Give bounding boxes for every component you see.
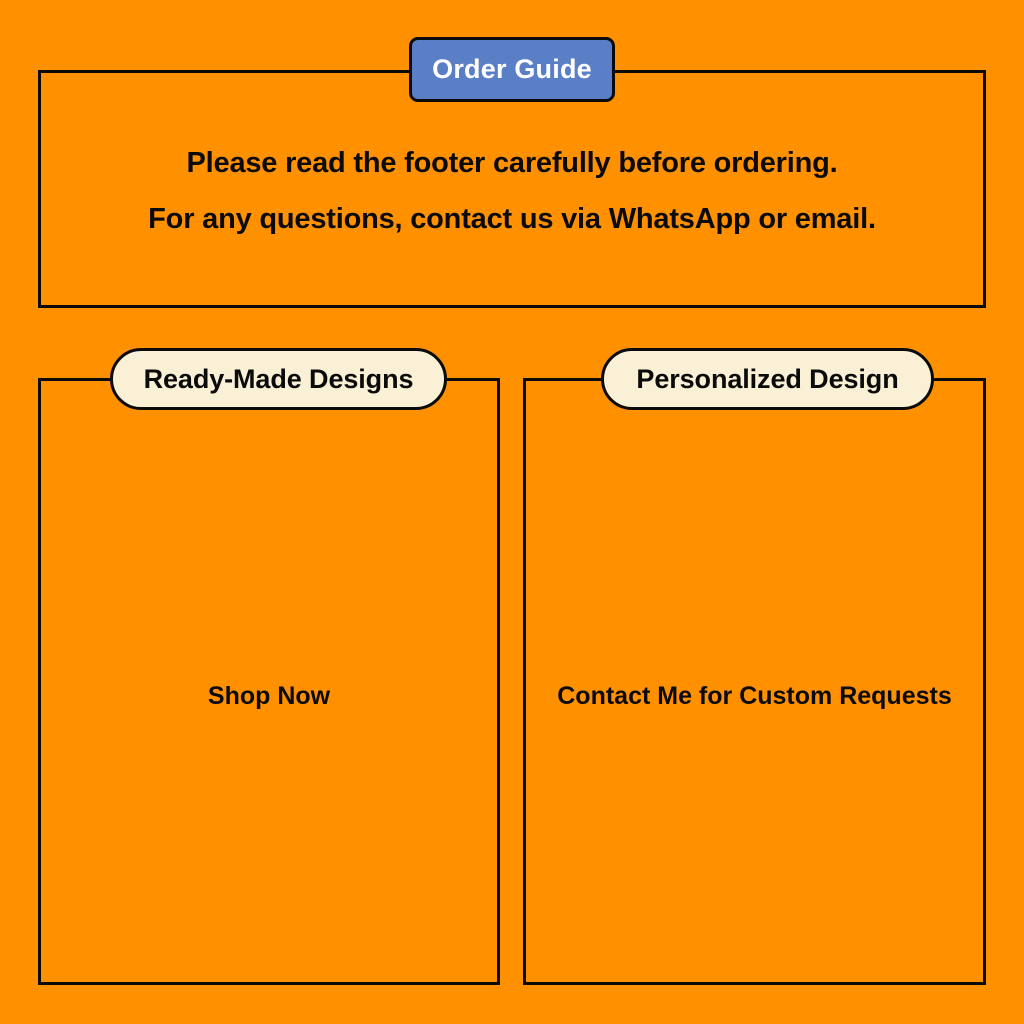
- personalized-design-panel: Contact Me for Custom Requests: [523, 378, 986, 985]
- poster-canvas: Please read the footer carefully before …: [0, 0, 1024, 1024]
- personalized-design-pill: Personalized Design: [601, 348, 934, 410]
- order-guide-box: Please read the footer carefully before …: [38, 70, 986, 308]
- notice-line-2: For any questions, contact us via WhatsA…: [41, 191, 983, 247]
- shop-now-label[interactable]: Shop Now: [33, 682, 505, 711]
- ready-made-designs-panel: Shop Now: [38, 378, 500, 985]
- order-guide-body: Please read the footer carefully before …: [41, 135, 983, 247]
- notice-line-1: Please read the footer carefully before …: [41, 135, 983, 191]
- contact-me-label[interactable]: Contact Me for Custom Requests: [518, 682, 991, 711]
- order-guide-badge: Order Guide: [409, 37, 615, 102]
- ready-made-designs-pill: Ready-Made Designs: [110, 348, 447, 410]
